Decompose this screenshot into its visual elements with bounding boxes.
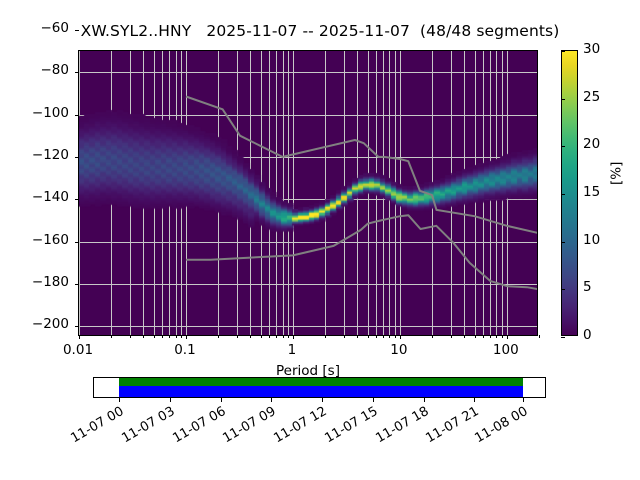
x-tick-minor (344, 335, 345, 338)
colorbar-tick (561, 289, 565, 290)
x-tick-minor (276, 335, 277, 338)
colorbar-tick-label: 15 (583, 184, 600, 200)
x-tick-minor (111, 335, 112, 338)
x-tick-minor (496, 335, 497, 338)
colorbar-gradient (562, 51, 577, 335)
y-tick (75, 157, 79, 158)
x-tick-minor (237, 335, 238, 338)
y-tick (75, 115, 79, 116)
timeline-tick (322, 398, 323, 402)
data-coverage-green (119, 378, 523, 386)
x-tick-minor (181, 335, 182, 338)
x-tick-minor (395, 335, 396, 338)
colorbar-tick (561, 337, 565, 338)
x-tick-minor (502, 335, 503, 338)
x-tick-minor (250, 335, 251, 338)
x-tick-minor (269, 335, 270, 338)
noise-model-nlnm (186, 215, 537, 289)
colorbar-tick-label: 20 (583, 136, 600, 152)
x-tick-minor (483, 335, 484, 338)
colorbar-tick-label: 10 (583, 232, 600, 248)
colorbar-tick-label: 30 (583, 41, 600, 57)
colorbar-tick (561, 194, 565, 195)
y-tick (75, 284, 79, 285)
timeline-tick (373, 398, 374, 402)
timeline-tick (424, 398, 425, 402)
y-tick-label: −100 (0, 105, 69, 121)
colorbar-tick (561, 242, 565, 243)
y-tick-label: −120 (0, 147, 69, 163)
timeline-tick (221, 398, 222, 402)
x-tick-minor (539, 335, 540, 338)
x-tick-minor (154, 335, 155, 338)
x-tick-minor (451, 335, 452, 338)
x-tick-minor (288, 335, 289, 338)
x-tick-major (507, 335, 508, 339)
x-tick-label: 0.01 (38, 342, 118, 358)
x-tick-minor (162, 335, 163, 338)
x-tick-label: 10 (359, 342, 439, 358)
y-tick-label: −200 (0, 316, 69, 332)
data-coverage-timeline (93, 377, 546, 398)
y-tick-label: −140 (0, 189, 69, 205)
noise-model-nhnm (186, 97, 537, 234)
x-tick-minor (218, 335, 219, 338)
x-tick-major (79, 335, 80, 339)
data-coverage-blue (119, 386, 523, 397)
x-tick-minor (432, 335, 433, 338)
x-tick-minor (368, 335, 369, 338)
x-tick-minor (357, 335, 358, 338)
noise-model-curves (79, 51, 537, 335)
x-tick-minor (143, 335, 144, 338)
timeline-tick (523, 398, 524, 402)
y-tick-label: −80 (0, 62, 69, 78)
x-tick-minor (490, 335, 491, 338)
y-tick (75, 199, 79, 200)
timeline-tick (170, 398, 171, 402)
y-tick (75, 30, 79, 31)
colorbar-tick (561, 146, 565, 147)
x-tick-minor (261, 335, 262, 338)
x-tick-minor (376, 335, 377, 338)
x-tick-minor (464, 335, 465, 338)
colorbar-tick-label: 25 (583, 89, 600, 105)
x-tick-label: 0.1 (145, 342, 225, 358)
x-tick-minor (283, 335, 284, 338)
colorbar-tick-label: 0 (583, 327, 592, 343)
y-tick-label: −60 (0, 20, 69, 36)
y-tick (75, 326, 79, 327)
x-tick-minor (130, 335, 131, 338)
y-tick-label: −160 (0, 232, 69, 248)
x-tick-minor (169, 335, 170, 338)
x-tick-major (186, 335, 187, 339)
colorbar-tick (561, 51, 565, 52)
ppsd-plot-area (79, 51, 537, 335)
y-tick (75, 72, 79, 73)
x-tick-minor (383, 335, 384, 338)
colorbar-tick (561, 99, 565, 100)
x-tick-major (293, 335, 294, 339)
x-tick-label: 100 (466, 342, 546, 358)
page-title: XW.SYL2..HNY 2025-11-07 -- 2025-11-07 (4… (0, 22, 640, 40)
colorbar-label: [%] (608, 162, 624, 185)
x-tick-label: 1 (252, 342, 332, 358)
x-tick-minor (176, 335, 177, 338)
y-tick (75, 242, 79, 243)
colorbar (561, 50, 578, 336)
colorbar-tick-label: 5 (583, 279, 592, 295)
y-tick-label: −180 (0, 274, 69, 290)
ppsd-axes (78, 50, 538, 336)
x-tick-minor (475, 335, 476, 338)
timeline-tick (119, 398, 120, 402)
timeline-tick (271, 398, 272, 402)
timeline-tick (474, 398, 475, 402)
x-tick-major (400, 335, 401, 339)
x-tick-minor (389, 335, 390, 338)
x-tick-minor (325, 335, 326, 338)
